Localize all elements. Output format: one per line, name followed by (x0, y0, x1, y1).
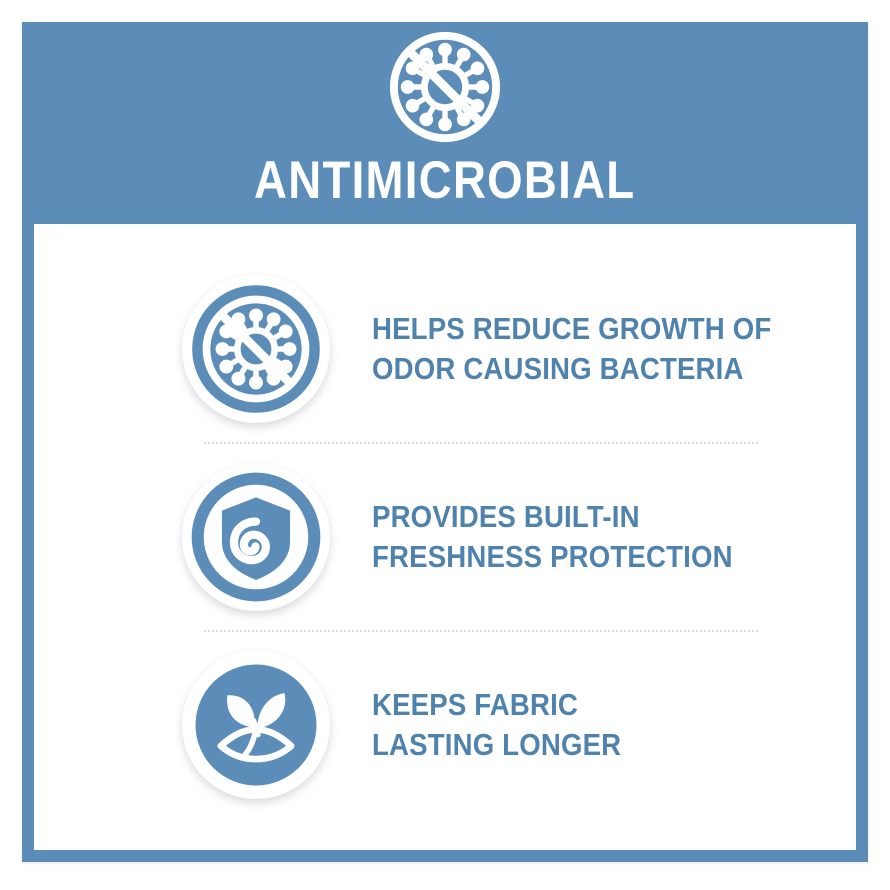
feature-row-freshness: PROVIDES BUILT-IN FRESHNESS PROTECTION (34, 444, 856, 630)
brand-panel: ANTIMICROBIAL (22, 22, 868, 862)
feature-text-fabric: KEEPS FABRIC LASTING LONGER (372, 685, 621, 766)
feature-icon-disc (182, 463, 330, 611)
feature-line: KEEPS FABRIC (372, 685, 621, 725)
feature-icon-disc (182, 651, 330, 799)
feature-icon-disc (182, 275, 330, 423)
feature-icon-wrap (182, 651, 330, 799)
feature-row-fabric: KEEPS FABRIC LASTING LONGER (34, 632, 856, 818)
leaf-fabric-icon (190, 659, 322, 791)
row-divider (204, 442, 758, 444)
feature-row-bacteria: HELPS REDUCE GROWTH OF ODOR CAUSING BACT… (34, 256, 856, 442)
feature-list: HELPS REDUCE GROWTH OF ODOR CAUSING BACT… (34, 256, 856, 818)
feature-line: LASTING LONGER (372, 725, 621, 765)
antimicrobial-infographic: ANTIMICROBIAL (0, 0, 890, 890)
no-virus-circle-icon (190, 283, 322, 415)
feature-line: HELPS REDUCE GROWTH OF (372, 309, 771, 349)
feature-line: PROVIDES BUILT-IN (372, 497, 733, 537)
features-card: HELPS REDUCE GROWTH OF ODOR CAUSING BACT… (34, 224, 856, 850)
feature-text-bacteria: HELPS REDUCE GROWTH OF ODOR CAUSING BACT… (372, 309, 771, 390)
shield-freshness-icon (190, 471, 322, 603)
feature-icon-wrap (182, 275, 330, 423)
no-virus-icon (386, 28, 504, 146)
feature-line: ODOR CAUSING BACTERIA (372, 349, 771, 389)
page-title: ANTIMICROBIAL (254, 154, 635, 207)
header: ANTIMICROBIAL (22, 22, 868, 224)
feature-text-freshness: PROVIDES BUILT-IN FRESHNESS PROTECTION (372, 497, 733, 578)
feature-icon-wrap (182, 463, 330, 611)
row-divider (204, 630, 758, 632)
feature-line: FRESHNESS PROTECTION (372, 537, 733, 577)
